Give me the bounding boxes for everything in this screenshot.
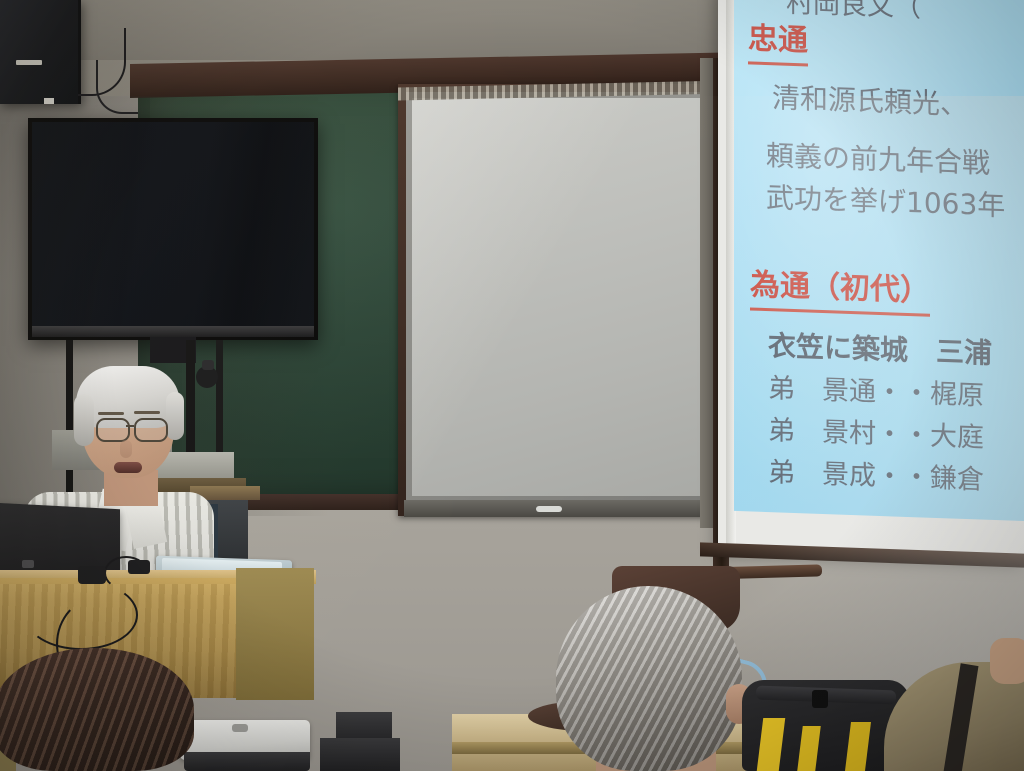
cable-connector-2: [128, 560, 150, 574]
presenter-eyebrow-right: [134, 411, 160, 414]
display-chin: [32, 326, 314, 337]
ceiling-speaker: [0, 0, 81, 104]
slide-line-title: 村岡良文（: [786, 0, 1024, 30]
presenter-hair-right: [166, 392, 184, 440]
speaker-cable-2: [96, 60, 138, 114]
foreground-device-side: [320, 738, 400, 771]
presenter-eyebrow-left: [98, 412, 124, 415]
speaker-brand-badge: [16, 60, 42, 65]
audience-member-right-neck: [990, 638, 1024, 684]
presenter-mouth: [114, 462, 142, 473]
laptop-logo: [22, 560, 34, 568]
whiteboard-glare: [412, 98, 706, 496]
presenter-glasses-right-lens: [134, 418, 168, 442]
presenter-glasses-bridge: [126, 425, 134, 427]
ceiling-camera-mount: [202, 360, 214, 370]
display-reflection: [32, 122, 314, 326]
whiteboard-marker: [536, 506, 562, 512]
presenter-hair-left: [74, 394, 94, 446]
projector-lens: [232, 724, 248, 732]
presenter-glasses-left-lens: [96, 418, 130, 442]
speaker-indicator: [44, 98, 54, 104]
backpack-buckle: [812, 690, 828, 708]
presenter-nose: [120, 440, 132, 458]
audience-member-left-hair: [0, 648, 194, 771]
cable-connector: [78, 566, 106, 584]
podium-side-panel: [236, 568, 314, 700]
projector-base: [184, 752, 310, 771]
audience-member-center-hair: [556, 586, 742, 771]
slide-heading-tadamichi: 忠通: [748, 13, 808, 66]
lecture-room-photo: 村岡良文（ 忠通 清和源氏頼光、 頼義の前九年合戦 武功を挙げ1063年 為通（…: [0, 0, 1024, 771]
